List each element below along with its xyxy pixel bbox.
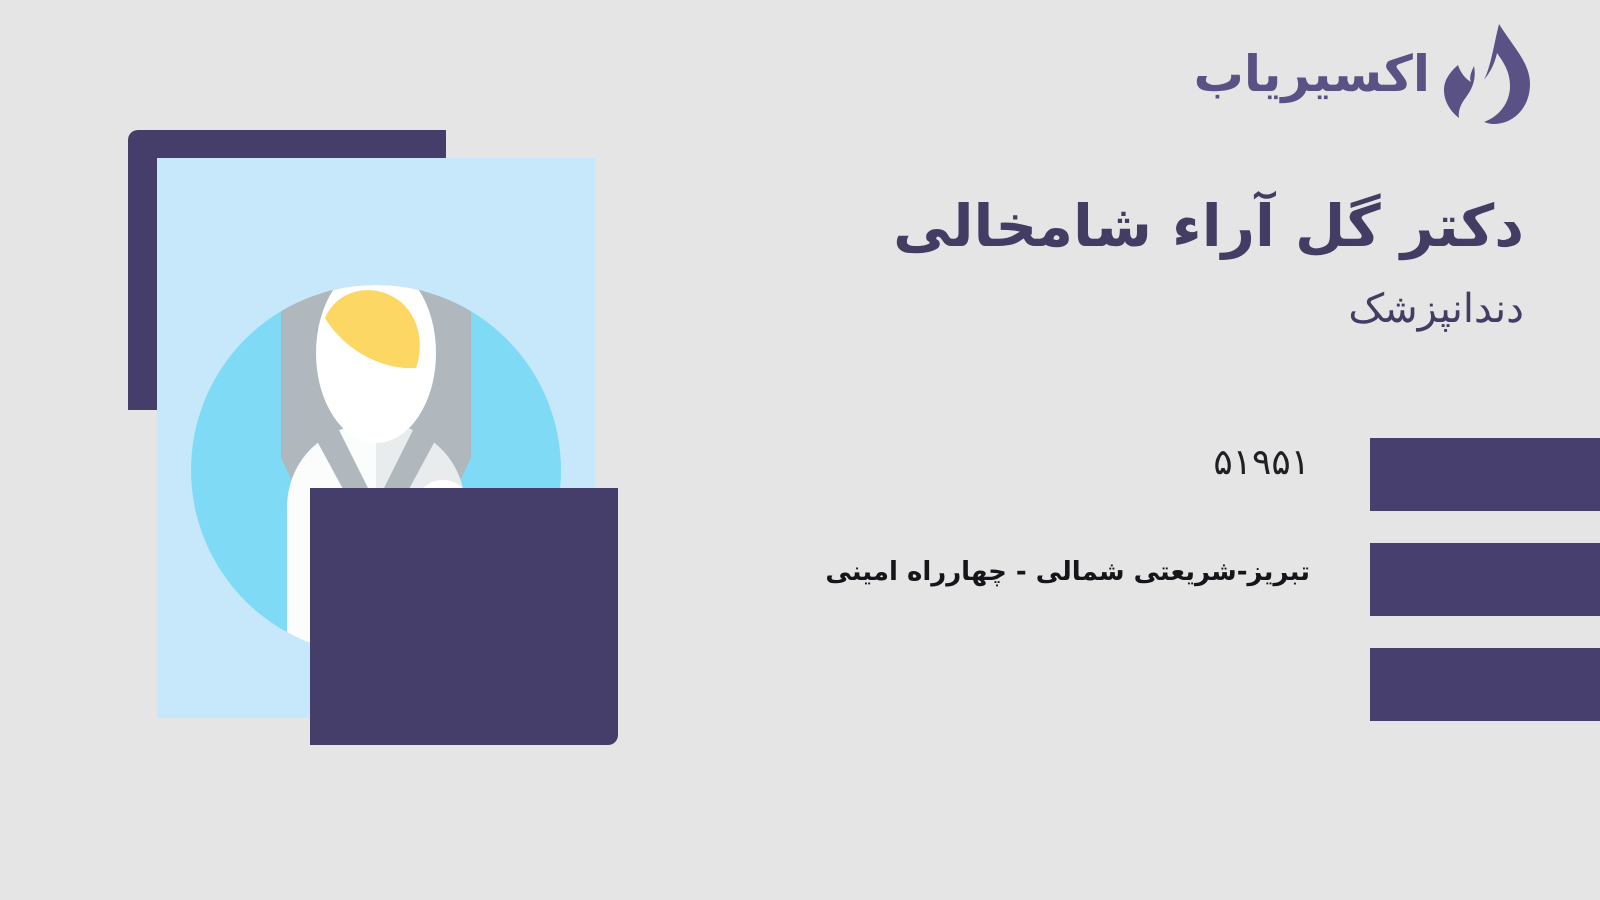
brand-logo[interactable]: اکسیریاب (1194, 22, 1530, 126)
brand-name: اکسیریاب (1194, 49, 1430, 99)
decorative-bar-1 (1370, 438, 1600, 511)
decorative-bar-2 (1370, 543, 1600, 616)
business-card-canvas: اکسیریاب (0, 0, 1600, 900)
doctor-address: تبریز-شریعتی شمالی - چهارراه امینی (825, 557, 1310, 587)
doctor-name: دکتر گل آراء شامخالی (784, 190, 1524, 263)
decorative-frame-front-icon (310, 488, 618, 745)
doctor-info: دکتر گل آراء شامخالی دندانپزشک (784, 190, 1524, 335)
doctor-code: ۵۱۹۵۱ (1213, 442, 1310, 483)
decorative-bar-3 (1370, 648, 1600, 721)
decorative-bars (1370, 0, 1600, 900)
flame-droplet-icon (1444, 22, 1530, 126)
doctor-specialty: دندانپزشک (784, 283, 1524, 335)
doctor-illustration (128, 130, 618, 745)
